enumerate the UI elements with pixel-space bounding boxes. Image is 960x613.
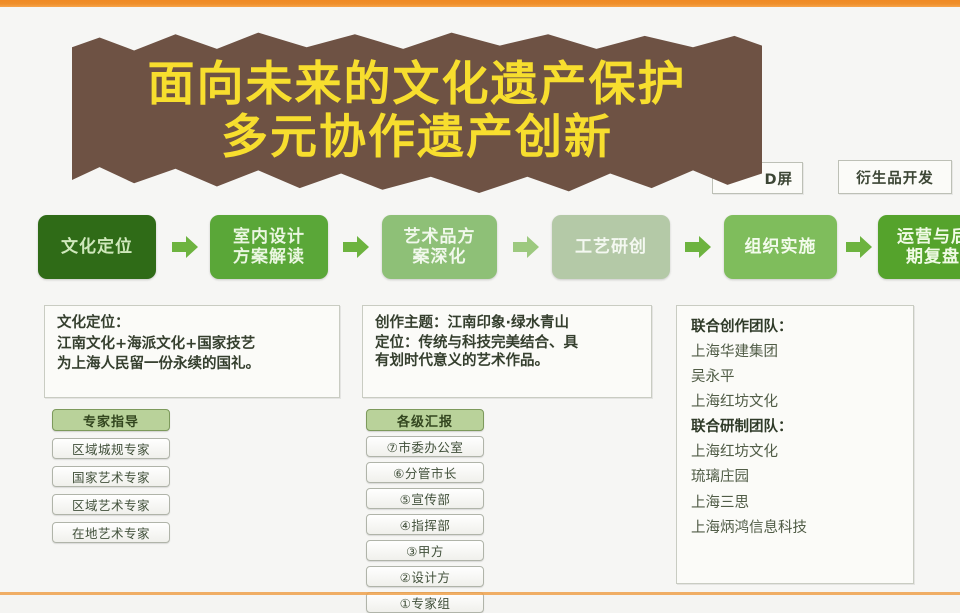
creative-theme-card: 创作主题：江南印象·绿水青山 定位：传统与科技完美结合、具 有划时代意义的艺术作…	[362, 305, 652, 398]
process-flow: 文化定位 室内设计方案解读 艺术品方案深化 工艺研创	[38, 215, 928, 295]
flow-arrow-icon	[511, 234, 541, 260]
flow-step-label: 工艺研创	[575, 237, 647, 257]
card-line: 文化定位：	[57, 313, 329, 334]
derivative-development-label: 衍生品开发	[856, 167, 934, 188]
flow-step-label: 艺术品方案深化	[404, 227, 476, 267]
reporting-chip-5[interactable]: ⑤宣传部	[366, 488, 484, 509]
top-accent-bar	[0, 0, 960, 7]
reporting-hierarchy-column: 各级汇报 ⑦市委办公室 ⑥分管市长 ⑤宣传部 ④指挥部 ③甲方 ②设计方 ①专家…	[366, 409, 484, 613]
flow-arrow-icon	[683, 234, 713, 260]
expert-guidance-column: 专家指导 区域城规专家 国家艺术专家 区域艺术专家 在地艺术专家	[52, 409, 170, 543]
card-line: 琉璃庄园	[691, 465, 903, 490]
expert-chip-national-art[interactable]: 国家艺术专家	[52, 466, 170, 487]
chip-label: ③甲方	[406, 541, 444, 560]
derivative-development-box[interactable]: 衍生品开发	[838, 160, 952, 194]
chip-label: ④指挥部	[400, 515, 451, 534]
card-line: 创作主题：江南印象·绿水青山	[375, 313, 641, 334]
flow-step-label: 运营与后期复盘	[897, 227, 960, 267]
card-line: 上海红坊文化	[691, 440, 903, 465]
reporting-hierarchy-header: 各级汇报	[366, 409, 484, 431]
flow-step-artwork-deepening[interactable]: 艺术品方案深化	[382, 215, 497, 279]
chip-label: 区域艺术专家	[72, 495, 150, 514]
bottom-accent-bar	[0, 592, 960, 595]
chip-label: ②设计方	[400, 567, 451, 586]
chip-label: 区域城规专家	[72, 439, 150, 458]
card-line: 江南文化+海派文化+国家技艺	[57, 334, 329, 355]
flow-arrow-icon	[341, 234, 371, 260]
card-line: 联合创作团队：	[691, 315, 903, 340]
flow-step-operation-review[interactable]: 运营与后期复盘	[878, 215, 960, 279]
flow-arrow-icon	[844, 234, 874, 260]
card-line: 上海华建集团	[691, 340, 903, 365]
title-banner: 面向未来的文化遗产保护 多元协作遗产创新	[72, 31, 762, 193]
card-line: 上海三思	[691, 491, 903, 516]
card-line: 吴永平	[691, 365, 903, 390]
reporting-chip-6[interactable]: ⑥分管市长	[366, 462, 484, 483]
chip-label: 在地艺术专家	[72, 523, 150, 542]
chip-label: ①专家组	[400, 593, 451, 612]
reporting-chip-1[interactable]: ①专家组	[366, 592, 484, 613]
flow-step-organization[interactable]: 组织实施	[724, 215, 837, 279]
card-line: 有划时代意义的艺术作品。	[375, 352, 641, 371]
expert-chip-regional-art[interactable]: 区域艺术专家	[52, 494, 170, 515]
expert-chip-regional-planning[interactable]: 区域城规专家	[52, 438, 170, 459]
slide-stage: D屏 衍生品开发 文化定位 室内设计方案解读 艺术品方案深化	[0, 0, 960, 600]
flow-step-interior-design[interactable]: 室内设计方案解读	[210, 215, 328, 279]
card-line: 上海炳鸿信息科技	[691, 516, 903, 541]
slide-canvas: D屏 衍生品开发 文化定位 室内设计方案解读 艺术品方案深化	[0, 7, 960, 592]
led-screen-label: D屏	[764, 168, 793, 189]
card-line: 定位：传统与科技完美结合、具	[375, 334, 641, 353]
reporting-hierarchy-header-label: 各级汇报	[397, 411, 453, 430]
card-line: 联合研制团队：	[691, 415, 903, 440]
reporting-chip-2[interactable]: ②设计方	[366, 566, 484, 587]
flow-step-label: 文化定位	[61, 237, 133, 257]
title-line-2: 多元协作遗产创新	[221, 113, 613, 164]
chip-label: ⑦市委办公室	[387, 437, 464, 456]
flow-step-cultural-positioning[interactable]: 文化定位	[38, 215, 156, 279]
chip-label: ⑤宣传部	[400, 489, 451, 508]
teams-card: 联合创作团队： 上海华建集团 吴永平 上海红坊文化 联合研制团队： 上海红坊文化…	[676, 305, 914, 584]
chip-label: ⑥分管市长	[393, 463, 457, 482]
flow-step-label: 室内设计方案解读	[233, 227, 305, 267]
reporting-chip-7[interactable]: ⑦市委办公室	[366, 436, 484, 457]
expert-guidance-header-label: 专家指导	[83, 411, 139, 430]
card-line: 为上海人民留一份永续的国礼。	[57, 354, 329, 375]
flow-step-craft-research[interactable]: 工艺研创	[552, 215, 670, 279]
title-line-1: 面向未来的文化遗产保护	[148, 60, 687, 111]
reporting-chip-4[interactable]: ④指挥部	[366, 514, 484, 535]
expert-chip-local-art[interactable]: 在地艺术专家	[52, 522, 170, 543]
card-line: 上海红坊文化	[691, 390, 903, 415]
flow-arrow-icon	[170, 234, 200, 260]
cultural-positioning-card: 文化定位： 江南文化+海派文化+国家技艺 为上海人民留一份永续的国礼。	[44, 305, 340, 398]
expert-guidance-header: 专家指导	[52, 409, 170, 431]
reporting-chip-3[interactable]: ③甲方	[366, 540, 484, 561]
flow-step-label: 组织实施	[745, 237, 817, 257]
chip-label: 国家艺术专家	[72, 467, 150, 486]
